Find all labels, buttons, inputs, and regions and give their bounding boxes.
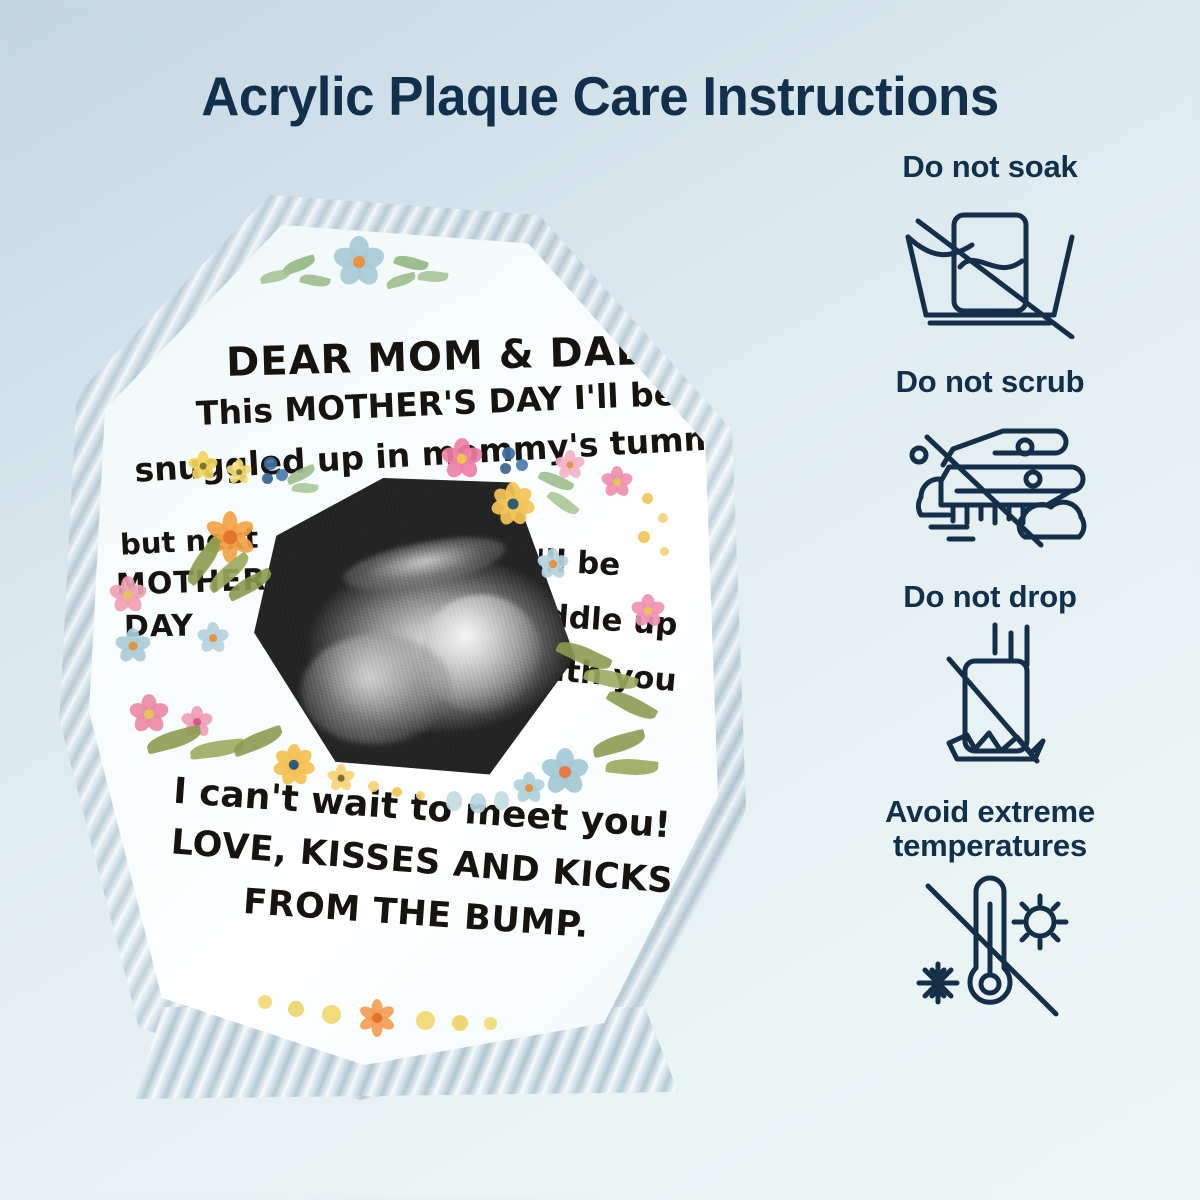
care-label-line-1: Avoid extreme xyxy=(790,795,1190,828)
care-instructions-list: Do not soak Do not scrub xyxy=(790,150,1190,1018)
floral-berry xyxy=(264,457,277,470)
floral-sparkle xyxy=(368,781,379,792)
floral-sparkle xyxy=(416,791,425,800)
floral-flower-yellow xyxy=(190,453,216,479)
leaf xyxy=(591,729,648,759)
floral-berry xyxy=(500,463,511,474)
floral-flower-yellow-small xyxy=(484,1017,497,1030)
no-drop-plaque-icon xyxy=(883,619,1098,769)
care-item-do-not-scrub: Do not scrub xyxy=(790,365,1190,549)
acrylic-plaque: DEAR MOM & DAD This MOTHER'S DAY I'll be… xyxy=(40,185,760,1130)
floral-flower-yellow-small xyxy=(258,995,272,1009)
leaf xyxy=(417,269,448,284)
floral-berry xyxy=(516,459,528,471)
care-label-do-not-drop: Do not drop xyxy=(790,580,1190,613)
care-label-do-not-soak: Do not soak xyxy=(790,150,1190,183)
floral-flower-blue xyxy=(198,623,228,653)
floral-flower-orange-lily xyxy=(358,999,396,1037)
floral-flower-pink xyxy=(556,451,584,479)
floral-flower-blue xyxy=(542,749,588,795)
floral-flower-pink xyxy=(442,439,482,479)
floral-berry xyxy=(262,473,273,484)
floral-berry xyxy=(502,447,515,460)
floral-flower-blue xyxy=(538,549,568,579)
page-title: Acrylic Plaque Care Instructions xyxy=(24,64,1176,128)
floral-flower-yellow-small xyxy=(288,1001,304,1017)
floral-sparkle xyxy=(642,493,653,504)
floral-flower-pink xyxy=(602,467,632,497)
floral-tulip xyxy=(470,793,486,813)
leaf xyxy=(385,272,417,290)
care-item-avoid-extreme-temperatures: Avoid extreme temperatures xyxy=(790,795,1190,1018)
floral-sparkle xyxy=(638,531,650,543)
no-extreme-temperature-icon xyxy=(880,868,1100,1018)
floral-sparkle xyxy=(392,787,402,797)
care-item-do-not-soak: Do not soak xyxy=(790,150,1190,339)
plaque-printed-face: DEAR MOM & DAD This MOTHER'S DAY I'll be… xyxy=(86,225,718,1065)
floral-sparkle xyxy=(658,513,668,523)
floral-flower-yellow-small xyxy=(416,1011,435,1030)
floral-flower-pink xyxy=(130,695,168,733)
leaf xyxy=(291,481,318,495)
care-label-avoid-extreme-temperatures: Avoid extreme temperatures xyxy=(790,795,1190,862)
floral-tulip xyxy=(446,791,462,811)
floral-flower-yellow xyxy=(274,745,314,785)
floral-flower-pink xyxy=(110,577,146,613)
floral-flower-blue xyxy=(116,629,150,663)
floral-flower-yellow xyxy=(228,461,250,483)
floral-sparkle xyxy=(660,547,669,556)
leaf xyxy=(546,487,580,518)
leaf xyxy=(299,272,331,290)
floral-flower-pink xyxy=(632,595,664,627)
leaf xyxy=(605,756,658,777)
leaf xyxy=(259,269,290,284)
floral-flower-yellow-small xyxy=(322,1005,341,1024)
floral-tulip xyxy=(494,791,509,810)
floral-flower-yellow xyxy=(492,483,534,525)
care-label-do-not-scrub: Do not scrub xyxy=(790,365,1190,398)
floral-flower-blue xyxy=(514,773,544,803)
floral-flower-yellow xyxy=(328,765,354,791)
no-soak-basin-icon xyxy=(880,189,1100,339)
no-scrub-brush-icon xyxy=(875,405,1105,550)
floral-flower-yellow-small xyxy=(452,1015,468,1031)
floral-sprig-top xyxy=(336,239,382,285)
care-label-line-2: temperatures xyxy=(790,829,1190,862)
care-item-do-not-drop: Do not drop xyxy=(790,580,1190,769)
